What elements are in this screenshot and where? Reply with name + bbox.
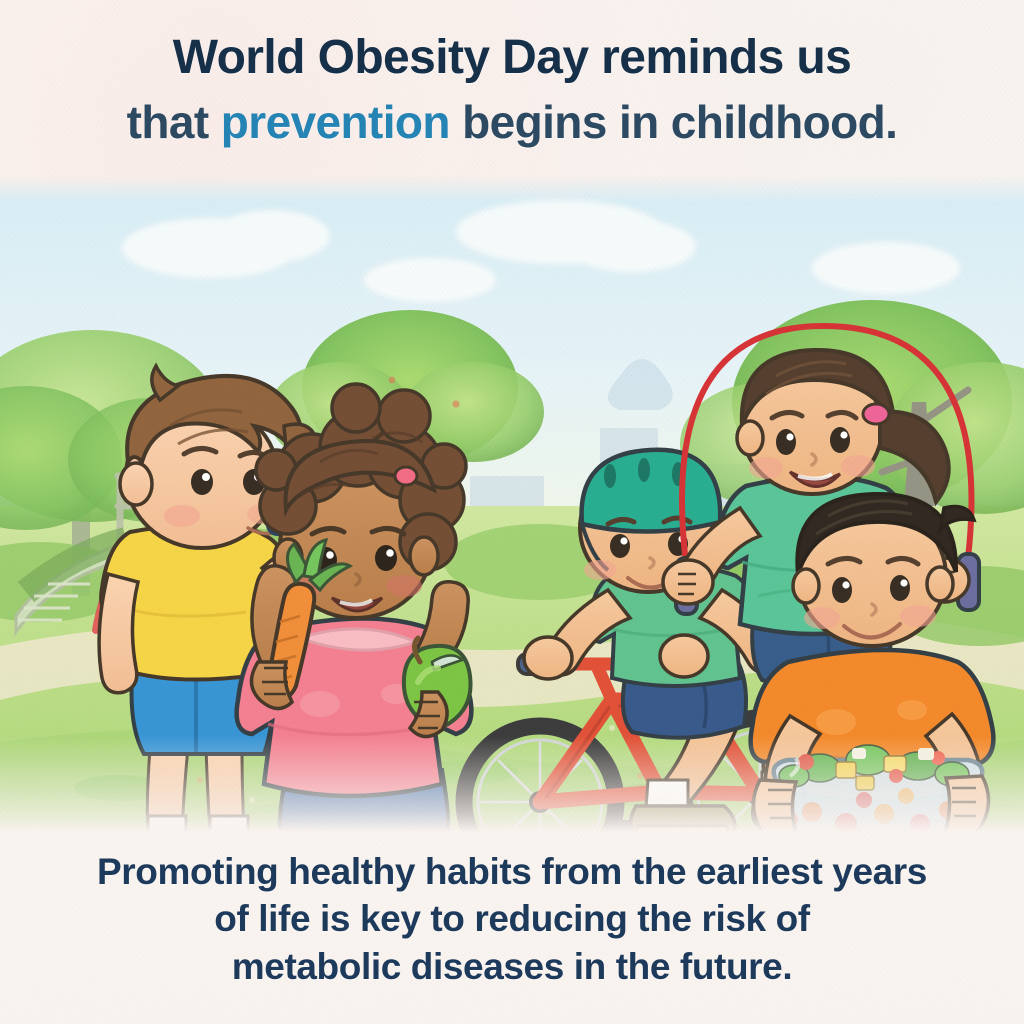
caption-line-2: of life is key to reducing the risk of bbox=[60, 895, 964, 942]
headline-line-2-suffix: begins in childhood. bbox=[450, 96, 897, 148]
headline-line-2-prefix: that bbox=[127, 96, 221, 148]
headline-line-2: that prevention begins in childhood. bbox=[40, 99, 984, 146]
headline-accent-word: prevention bbox=[221, 96, 450, 148]
park-illustration bbox=[0, 176, 1024, 832]
caption-line-1: Promoting healthy habits from the earlie… bbox=[60, 848, 964, 895]
headline-line-1: World Obesity Day reminds us bbox=[40, 34, 984, 83]
poster-canvas: World Obesity Day reminds us that preven… bbox=[0, 0, 1024, 1024]
headline-block: World Obesity Day reminds us that preven… bbox=[0, 34, 1024, 146]
caption-block: Promoting healthy habits from the earlie… bbox=[0, 848, 1024, 990]
caption-line-3: metabolic diseases in the future. bbox=[60, 943, 964, 990]
